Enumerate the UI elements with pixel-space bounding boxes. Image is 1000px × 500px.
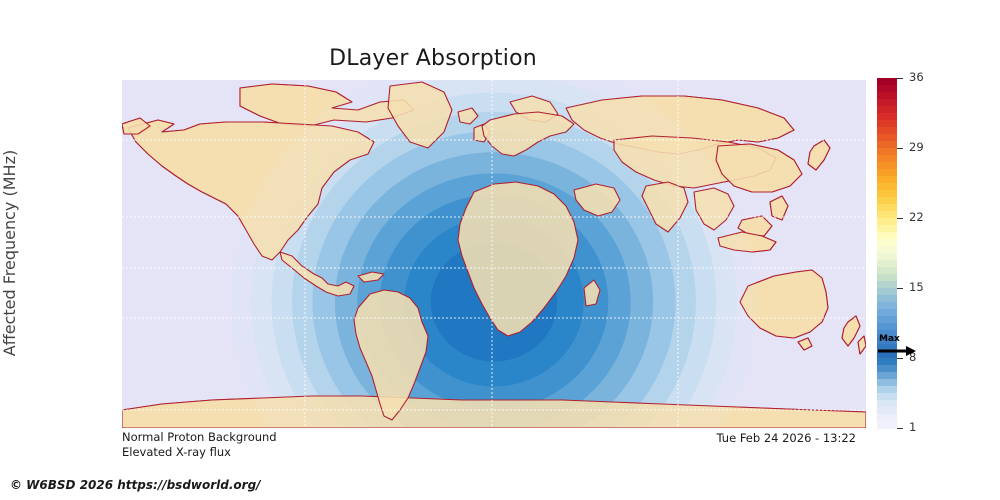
- tick-mark: [897, 218, 903, 219]
- world-map-panel: [122, 80, 866, 428]
- colorbar-tick: 36: [897, 78, 957, 79]
- colorbar-tick: 8: [897, 358, 957, 359]
- tick-label: 29: [909, 140, 924, 155]
- tick-mark: [897, 428, 903, 429]
- credit-line: © W6BSD 2026 https://bsdworld.org/: [10, 478, 261, 492]
- colorbar-band: [877, 421, 897, 429]
- tick-mark: [897, 78, 903, 79]
- colorbar-gradient: [877, 78, 897, 428]
- colorbar-axis-label: Affected Frequency (MHz): [0, 78, 19, 428]
- colorbar-ticks: 1815222936: [897, 78, 957, 428]
- page-title: DLayer Absorption: [0, 46, 866, 71]
- tick-label: 36: [909, 70, 924, 85]
- figure-root: DLayer Absorption Normal Proton Backgrou…: [0, 0, 1000, 500]
- tick-label: 15: [909, 280, 924, 295]
- tick-mark: [897, 288, 903, 289]
- colorbar: [877, 78, 897, 428]
- note-xray-flux: Elevated X-ray flux: [122, 445, 231, 459]
- map-gridlines: [122, 80, 866, 428]
- tick-label: 1: [909, 420, 916, 435]
- colorbar-tick: 29: [897, 148, 957, 149]
- arrow-right-icon: [877, 345, 917, 357]
- colorbar-tick: 22: [897, 218, 957, 219]
- colorbar-tick: 1: [897, 428, 957, 429]
- tick-label: 22: [909, 210, 924, 225]
- max-marker-label: Max: [879, 334, 900, 344]
- colorbar-max-marker: Max: [877, 336, 919, 358]
- tick-mark: [897, 148, 903, 149]
- colorbar-tick: 15: [897, 288, 957, 289]
- timestamp: Tue Feb 24 2026 - 13:22: [0, 431, 866, 445]
